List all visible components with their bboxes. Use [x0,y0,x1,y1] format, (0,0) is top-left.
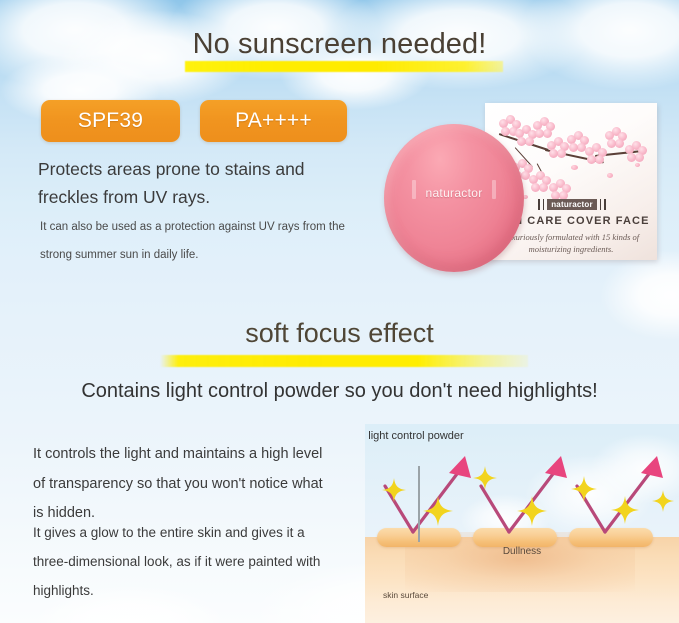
product-infographic-page: No sunscreen needed! SPF39 PA++++ Protec… [0,0,679,623]
label-light-control-powder: light control powder [368,428,464,445]
package-tagline: Luxuriously formulated with 15 kinds of … [493,231,649,256]
powder-leader-line [418,466,420,542]
section-subheading: Contains light control powder so you don… [0,380,679,403]
light-reflection-diagram: light control powder Dullness skin surfa… [365,424,679,623]
light-ray-arrowheads [449,456,663,478]
package-brand-bar: naturactor [526,199,618,210]
soft-focus-highlight-underline [160,355,528,367]
brand-bar-line [600,199,601,210]
headline-container: No sunscreen needed! [0,28,679,61]
section-title-soft-focus: soft focus effect [245,318,434,349]
soft-focus-heading-container: soft focus effect [0,318,679,349]
label-dullness: Dullness [365,546,679,557]
copy-protects-text: Protects areas prone to stains and freck… [38,155,368,212]
page-title: No sunscreen needed! [193,28,487,61]
falling-petal [607,173,613,178]
arrowhead-2 [545,456,567,478]
compact-brand-label: naturactor [384,186,524,200]
package-brand-name: naturactor [547,199,597,210]
badge-spf: SPF39 [41,100,180,142]
light-ray-outgoing-1 [413,466,463,532]
brand-bar-line [538,199,540,210]
copy-light-control-text: It controls the light and maintains a hi… [33,440,323,529]
light-ray-incoming-2 [481,486,509,532]
arrowhead-3 [641,456,663,478]
light-ray-outgoing-2 [509,466,559,532]
copy-protection-subtext: It can also be used as a protection agai… [40,213,360,269]
product-photo: naturactor SKIN CARE COVER FACE Luxuriou… [378,96,670,286]
arrowhead-1 [449,456,471,478]
brand-bar-line [543,199,544,210]
light-ray-outgoing-3 [605,466,655,532]
copy-glow-text: It gives a glow to the entire skin and g… [33,518,333,605]
falling-petal [571,165,578,170]
compact-case: naturactor [384,124,524,272]
light-ray-incoming-1 [385,486,413,532]
falling-petal [635,163,640,167]
light-ray-incoming-3 [577,486,605,532]
badge-pa: PA++++ [200,100,347,142]
brand-bar-line [604,199,606,210]
label-skin-surface: skin surface [383,590,428,600]
headline-highlight-underline [185,61,503,72]
